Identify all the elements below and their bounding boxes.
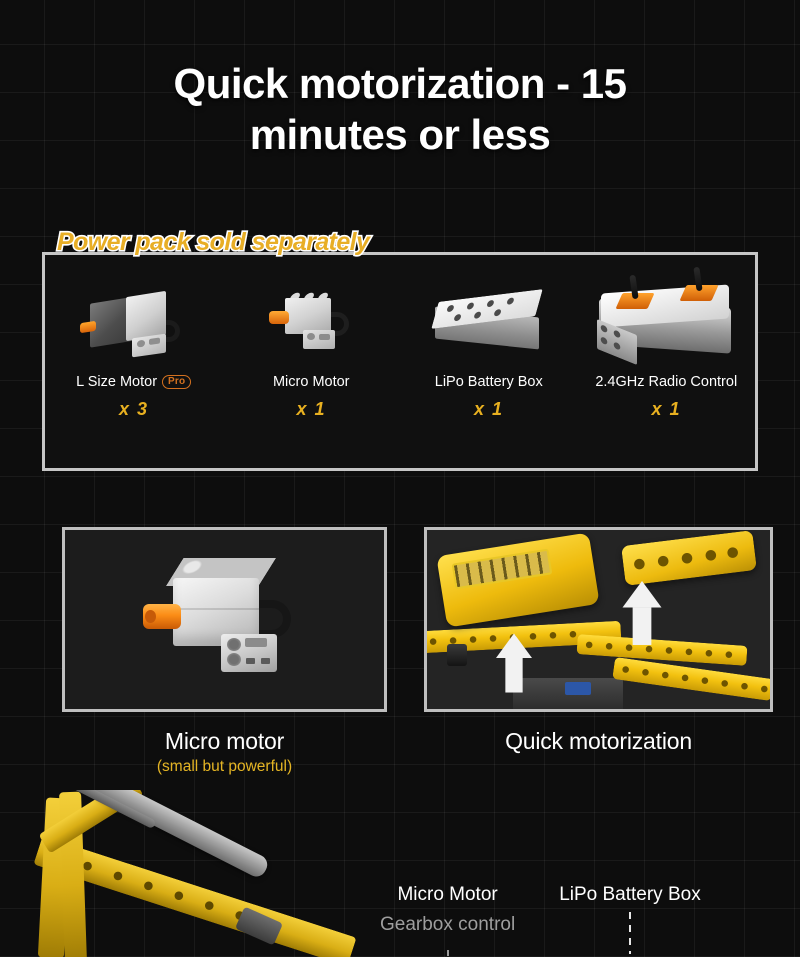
page-title: Quick motorization - 15 minutes or less [0,58,800,160]
product-label: L Size Motor [76,374,157,390]
crane-arm-photo [0,790,430,957]
quick-motorization-photo [427,530,770,709]
product-name-row: LiPo Battery Box [435,374,543,390]
arrow-up-icon [623,581,662,645]
bottom-labels: Micro Motor Gearbox control LiPo Battery… [380,884,800,957]
caption-title: Micro motor [62,728,387,755]
product-lipo-battery-box[interactable]: LiPo Battery Box x 1 [400,255,578,465]
product-quantity: x 1 [651,399,681,420]
page-title-line-1: Quick motorization - 15 [0,58,800,109]
product-name-row: Micro Motor [273,374,350,390]
micro-motor-icon [223,273,401,368]
product-quantity: x 3 [119,399,149,420]
product-quantity: x 1 [296,399,326,420]
pro-badge: Pro [162,375,191,390]
power-pack-heading: Power pack sold separately [57,228,369,257]
page-title-line-2: minutes or less [0,109,800,160]
power-pack-items: L Size Motor Pro x 3 Micro Motor x 1 [45,255,755,465]
bottom-label-lipo-battery-box: LiPo Battery Box [559,884,701,957]
product-quantity: x 1 [474,399,504,420]
micro-motor-photo [143,552,323,692]
quick-motorization-photo-panel [424,527,773,712]
radio-control-icon [578,273,756,368]
arrow-up-icon [496,633,532,692]
pointer-dashed-line [629,912,631,954]
product-micro-motor[interactable]: Micro Motor x 1 [223,255,401,465]
bottom-label-micro-motor: Micro Motor Gearbox control [380,884,515,957]
product-radio-control[interactable]: 2.4GHz Radio Control x 1 [578,255,756,465]
product-name-row: L Size Motor Pro [76,374,191,390]
bottom-label-title: Micro Motor [380,884,515,906]
product-label: 2.4GHz Radio Control [595,374,737,390]
product-l-size-motor[interactable]: L Size Motor Pro x 3 [45,255,223,465]
micro-motor-photo-panel [62,527,387,712]
product-name-row: 2.4GHz Radio Control [595,374,737,390]
caption-title: Quick motorization [424,728,773,755]
bottom-label-subtitle: Gearbox control [380,914,515,936]
bottom-label-title: LiPo Battery Box [559,884,701,906]
pointer-dashed-line [447,950,449,957]
product-label: Micro Motor [273,374,350,390]
product-label: LiPo Battery Box [435,374,543,390]
l-size-motor-icon [45,273,223,368]
micro-motor-caption: Micro motor (small but powerful) [62,728,387,776]
caption-subtitle: (small but powerful) [62,758,387,776]
lipo-battery-box-icon [400,273,578,368]
quick-motorization-caption: Quick motorization [424,728,773,755]
